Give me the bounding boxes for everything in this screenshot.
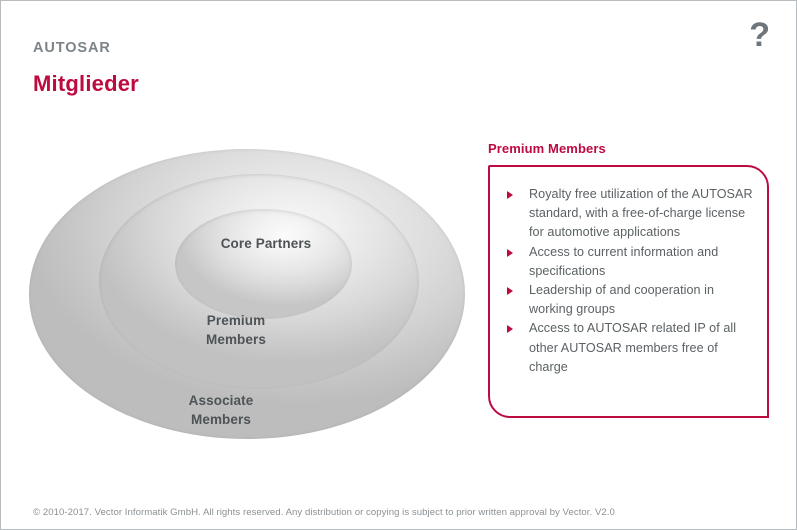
premium-members-panel: Premium Members Royalty free utilization…: [488, 141, 769, 418]
page-eyebrow: AUTOSAR: [33, 41, 139, 56]
benefits-list: Royalty free utilization of the AUTOSAR …: [504, 185, 755, 377]
list-item: Royalty free utilization of the AUTOSAR …: [504, 185, 755, 243]
page-title: Mitglieder: [33, 73, 139, 95]
triangle-bullet-icon: [507, 191, 513, 199]
ellipse-core-partners: [175, 209, 352, 319]
triangle-bullet-icon: [507, 325, 513, 333]
panel-title: Premium Members: [488, 141, 769, 156]
panel-box: Royalty free utilization of the AUTOSAR …: [488, 165, 769, 418]
header: AUTOSAR Mitglieder: [33, 41, 139, 95]
help-icon[interactable]: ?: [749, 18, 770, 52]
list-item-text: Royalty free utilization of the AUTOSAR …: [529, 187, 753, 239]
membership-diagram: Core Partners Premium Members Associate …: [23, 144, 473, 444]
list-item: Leadership of and cooperation in working…: [504, 281, 755, 319]
diagram-label-premium-members: Premium Members: [181, 311, 291, 349]
triangle-bullet-icon: [507, 287, 513, 295]
list-item-text: Leadership of and cooperation in working…: [529, 283, 714, 316]
list-item: Access to current information and specif…: [504, 243, 755, 281]
slide-canvas: AUTOSAR Mitglieder ? Core Partners Premi…: [0, 0, 797, 530]
list-item: Access to AUTOSAR related IP of all othe…: [504, 319, 755, 377]
footer-copyright: © 2010-2017. Vector Informatik GmbH. All…: [33, 507, 615, 518]
triangle-bullet-icon: [507, 249, 513, 257]
list-item-text: Access to current information and specif…: [529, 245, 718, 278]
diagram-label-associate-members: Associate Members: [161, 391, 281, 429]
diagram-label-core-partners: Core Partners: [201, 234, 331, 253]
list-item-text: Access to AUTOSAR related IP of all othe…: [529, 321, 736, 373]
